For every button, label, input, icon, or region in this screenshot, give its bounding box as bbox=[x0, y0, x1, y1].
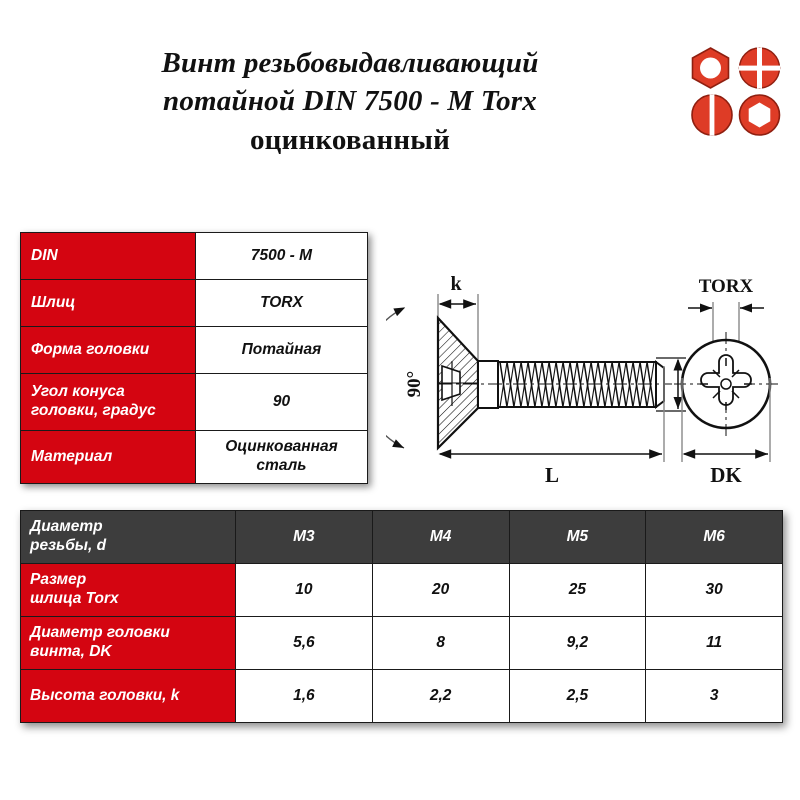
table-row: Материал Оцинкованная сталь bbox=[21, 431, 368, 484]
dim-value: 30 bbox=[646, 564, 783, 617]
dim-value: 1,6 bbox=[236, 670, 373, 723]
spec-value: 7500 - M bbox=[195, 233, 367, 280]
column-header-m4: M4 bbox=[372, 511, 509, 564]
spec-value-line-2: сталь bbox=[206, 457, 357, 476]
spec-key: Угол конуса головки, градус bbox=[21, 374, 196, 431]
dim-value: 11 bbox=[646, 617, 783, 670]
spec-key-line-1: Угол конуса bbox=[31, 383, 185, 402]
table-row: Размер шлица Torx 10 20 25 30 bbox=[21, 564, 783, 617]
specification-table: DIN 7500 - M Шлиц TORX Форма головки Пот… bbox=[20, 232, 368, 484]
split-circle-icon bbox=[692, 95, 732, 136]
dim-value: 8 bbox=[372, 617, 509, 670]
spec-key-line-2: головки, градус bbox=[31, 402, 185, 421]
spec-value: Оцинкованная сталь bbox=[195, 431, 367, 484]
page-title: Винт резьбовыдавливающий потайной DIN 75… bbox=[50, 44, 650, 159]
dim-value: 9,2 bbox=[509, 617, 646, 670]
screw-side-view: 90° k bbox=[386, 273, 703, 487]
table-row: Шлиц TORX bbox=[21, 280, 368, 327]
table-row: Высота головки, k 1,6 2,2 2,5 3 bbox=[21, 670, 783, 723]
dim-header-label-line-2: резьбы, d bbox=[30, 537, 226, 556]
angle-arc bbox=[386, 308, 404, 448]
dimension-k-label: k bbox=[450, 273, 462, 295]
spec-value-line-1: Оцинкованная bbox=[206, 438, 357, 457]
quartered-circle-icon bbox=[739, 48, 780, 89]
spec-key: Материал bbox=[21, 431, 196, 484]
title-line-3: оцинкованный bbox=[50, 121, 650, 159]
column-header-m3: M3 bbox=[236, 511, 373, 564]
dim-value: 20 bbox=[372, 564, 509, 617]
dim-row-label: Высота головки, k bbox=[21, 670, 236, 723]
hex-nut-icon bbox=[693, 48, 729, 88]
spec-value: Потайная bbox=[195, 327, 367, 374]
dim-header-label-line-1: Диаметр bbox=[30, 518, 226, 537]
spec-key: Форма головки bbox=[21, 327, 196, 374]
dim-value: 2,5 bbox=[509, 670, 646, 723]
dimension-DK-label: DK bbox=[710, 463, 742, 487]
dimensions-table: Диаметр резьбы, d M3 M4 M5 M6 Размер шли… bbox=[20, 510, 783, 723]
table-row: Угол конуса головки, градус 90 bbox=[21, 374, 368, 431]
column-header-m6: M6 bbox=[646, 511, 783, 564]
dim-header-label: Диаметр резьбы, d bbox=[21, 511, 236, 564]
dim-value: 5,6 bbox=[236, 617, 373, 670]
spec-key: Шлиц bbox=[21, 280, 196, 327]
torx-label: TORX bbox=[699, 276, 754, 297]
dim-value: 2,2 bbox=[372, 670, 509, 723]
dim-value: 10 bbox=[236, 564, 373, 617]
hex-socket-circle-icon bbox=[740, 95, 780, 135]
table-row: DIN 7500 - M bbox=[21, 233, 368, 280]
angle-label: 90° bbox=[404, 371, 425, 398]
column-header-m5: M5 bbox=[509, 511, 646, 564]
dim-row-label: Диаметр головки винта, DK bbox=[21, 617, 236, 670]
dimension-L-label: L bbox=[545, 463, 559, 487]
technical-drawing: 90° k bbox=[386, 266, 786, 496]
dim-row-label-line-2: шлица Torx bbox=[30, 590, 226, 609]
table-header-row: Диаметр резьбы, d M3 M4 M5 M6 bbox=[21, 511, 783, 564]
dim-row-label: Размер шлица Torx bbox=[21, 564, 236, 617]
dim-row-label-line-2: винта, DK bbox=[30, 643, 226, 662]
fastener-logo bbox=[690, 46, 782, 138]
table-row: Диаметр головки винта, DK 5,6 8 9,2 11 bbox=[21, 617, 783, 670]
table-row: Форма головки Потайная bbox=[21, 327, 368, 374]
screw-top-view: TORX DK bbox=[674, 276, 778, 487]
spec-key: DIN bbox=[21, 233, 196, 280]
dim-row-label-line-1: Диаметр головки bbox=[30, 624, 226, 643]
title-line-1: Винт резьбовыдавливающий bbox=[50, 44, 650, 82]
dim-value: 3 bbox=[646, 670, 783, 723]
dim-row-label-line-1: Размер bbox=[30, 571, 226, 590]
title-line-2: потайной DIN 7500 - M Torx bbox=[50, 82, 650, 120]
spec-value: 90 bbox=[195, 374, 367, 431]
spec-value: TORX bbox=[195, 280, 367, 327]
dim-value: 25 bbox=[509, 564, 646, 617]
